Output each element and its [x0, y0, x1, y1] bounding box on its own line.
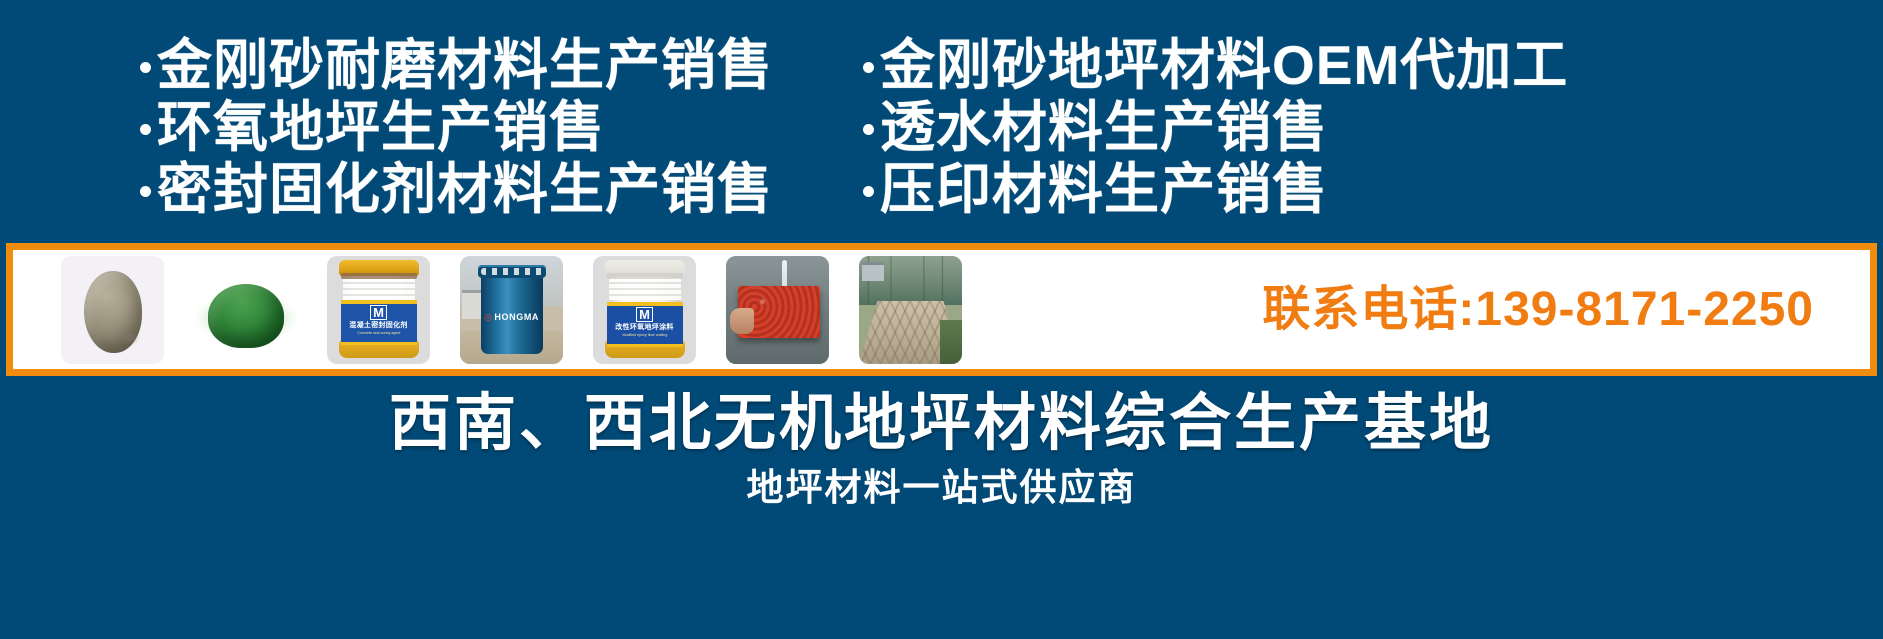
bullet-dot-icon — [863, 124, 874, 135]
m-logo-icon: M — [370, 305, 387, 320]
product-thumb-sealer-bucket: M 混凝土密封固化剂 Concrete seal curing agent — [327, 256, 430, 364]
bullet-dot-icon — [140, 62, 151, 73]
service-label: 金刚砂耐磨材料生产销售 — [157, 37, 773, 93]
bucket-lid-band-shape — [607, 273, 683, 279]
product-thumb-hongma-drum: ◎HONGMA — [460, 256, 563, 364]
service-label: 透水材料生产销售 — [880, 99, 1328, 155]
bucket-label: M 改性环氧地坪涂料 Modified epoxy floor coating — [607, 302, 683, 347]
product-thumb-grey-powder — [61, 256, 164, 364]
brand-name: HONGMA — [494, 312, 539, 322]
service-item: 金刚砂耐磨材料生产销售 — [140, 34, 855, 96]
drum-rim-shape — [478, 265, 546, 278]
product-thumbnail-list: M 混凝土密封固化剂 Concrete seal curing agent ◎H… — [13, 251, 962, 369]
footer-subline: 地坪材料一站式供应商 — [0, 466, 1883, 510]
green-powder-pile-shape — [208, 284, 284, 348]
service-item: 压印材料生产销售 — [863, 158, 1883, 220]
bullet-dot-icon — [863, 186, 874, 197]
footer-headline: 西南、西北无机地坪材料综合生产基地 — [0, 388, 1883, 459]
brand-mark-icon: ◎ — [484, 312, 492, 322]
service-label: 金刚砂地坪材料OEM代加工 — [880, 37, 1568, 93]
bucket-lid-band-shape — [341, 273, 417, 279]
bullet-dot-icon — [140, 186, 151, 197]
hand-shape — [730, 308, 754, 334]
service-item: 密封固化剂材料生产销售 — [140, 158, 855, 220]
advertising-banner: 金刚砂耐磨材料生产销售 环氧地坪生产销售 密封固化剂材料生产销售 金刚砂地坪材料… — [0, 0, 1883, 639]
bucket-ribs-shape — [343, 278, 415, 300]
bucket-label-en: Concrete seal curing agent — [357, 330, 400, 335]
services-section: 金刚砂耐磨材料生产销售 环氧地坪生产销售 密封固化剂材料生产销售 金刚砂地坪材料… — [0, 34, 1883, 242]
bullet-dot-icon — [140, 124, 151, 135]
service-label: 环氧地坪生产销售 — [157, 99, 605, 155]
product-thumb-permeable-material — [726, 256, 829, 364]
bucket-label-en: Modified epoxy floor coating — [622, 332, 667, 337]
path-photo-grass — [940, 320, 962, 363]
bucket-label-cn: 改性环氧地坪涂料 — [615, 324, 673, 332]
bucket-ribs-shape — [609, 278, 681, 300]
service-item: 环氧地坪生产销售 — [140, 96, 855, 158]
powder-spot-shape — [121, 333, 137, 343]
drum-brand-label: ◎HONGMA — [484, 312, 539, 323]
services-left-column: 金刚砂耐磨材料生产销售 环氧地坪生产销售 密封固化剂材料生产销售 — [0, 34, 855, 242]
product-thumb-stamped-path — [859, 256, 962, 364]
product-showcase-strip: M 混凝土密封固化剂 Concrete seal curing agent ◎H… — [6, 243, 1877, 376]
bullet-dot-icon — [863, 62, 874, 73]
drum-bolts-shape — [481, 268, 543, 275]
bucket-label-cn: 混凝土密封固化剂 — [349, 322, 407, 330]
path-photo-building — [862, 262, 884, 281]
bucket-label: M 混凝土密封固化剂 Concrete seal curing agent — [341, 300, 417, 345]
m-logo-icon: M — [636, 307, 653, 322]
service-label: 密封固化剂材料生产销售 — [157, 161, 773, 217]
services-right-column: 金刚砂地坪材料OEM代加工 透水材料生产销售 压印材料生产销售 — [855, 34, 1883, 242]
service-label: 压印材料生产销售 — [880, 161, 1328, 217]
service-item: 透水材料生产销售 — [863, 96, 1883, 158]
service-item: 金刚砂地坪材料OEM代加工 — [863, 34, 1883, 96]
product-thumb-green-powder — [194, 256, 297, 364]
product-thumb-epoxy-bucket: M 改性环氧地坪涂料 Modified epoxy floor coating — [593, 256, 696, 364]
contact-phone[interactable]: 联系电话:139-8171-2250 — [1262, 286, 1870, 334]
